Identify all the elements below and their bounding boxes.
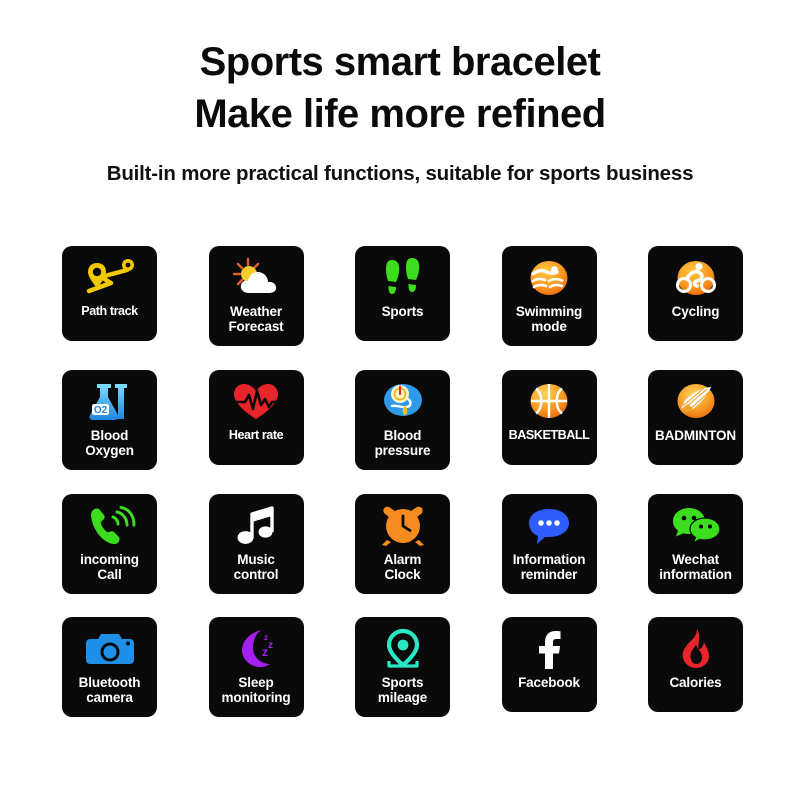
feature-tile-label: Weather Forecast [226,304,285,334]
feature-tile-sleep-monitoring[interactable]: z z z Sleep monitoring [209,617,304,717]
product-feature-poster: Sports smart bracelet Make life more ref… [0,0,800,800]
blood-pressure-icon [377,378,429,426]
camera-icon [84,625,136,673]
feature-tile-label: Alarm Clock [382,552,424,582]
feature-tile-basketball[interactable]: BASKETBALL [502,370,597,465]
feature-tile-label: Calories [667,675,723,690]
feature-tile-label: Sports [380,304,426,319]
music-note-icon [230,502,282,550]
feature-tile-blood-oxygen[interactable]: O2 Blood Oxygen [62,370,157,470]
flame-icon [670,625,722,673]
swimming-icon [523,254,575,302]
feature-tile-label: Sports mileage [376,675,429,705]
facebook-icon [523,625,575,673]
feature-tile-sports[interactable]: Sports [355,246,450,341]
feature-tile-label: Cycling [670,304,722,319]
feature-tile-music-control[interactable]: Music control [209,494,304,594]
incoming-call-icon [84,502,136,550]
badminton-icon [670,378,722,426]
feature-tile-label: incoming Call [78,552,141,582]
page-title-line-2: Make life more refined [0,88,800,140]
path-track-icon [84,254,136,302]
feature-tile-wechat-information[interactable]: Wechat information [648,494,743,594]
feature-tile-label: Information reminder [511,552,588,582]
message-bubble-icon [523,502,575,550]
feature-tile-label: Music control [232,552,281,582]
feature-grid: Path track Weather Forecast Sports [62,246,752,726]
feature-tile-label: Bluetooth camera [77,675,143,705]
feature-tile-label: BASKETBALL [507,428,592,443]
feature-tile-label: Blood Oxygen [83,428,136,458]
map-pin-icon [377,625,429,673]
feature-tile-label: Facebook [516,675,582,690]
cycling-icon [670,254,722,302]
feature-tile-label: Swimming mode [514,304,584,334]
feature-tile-label: BADMINTON [653,428,738,443]
feature-tile-label: Blood pressure [373,428,433,458]
footsteps-icon [377,254,429,302]
sleep-moon-icon: z z z [230,625,282,673]
feature-tile-path-track[interactable]: Path track [62,246,157,341]
alarm-clock-icon [377,502,429,550]
blood-oxygen-icon: O2 [84,378,136,426]
feature-tile-calories[interactable]: Calories [648,617,743,712]
basketball-icon [523,378,575,426]
svg-text:z: z [268,640,273,651]
feature-tile-blood-pressure[interactable]: Blood pressure [355,370,450,470]
page-title-line-1: Sports smart bracelet [0,36,800,88]
feature-tile-incoming-call[interactable]: incoming Call [62,494,157,594]
feature-tile-alarm-clock[interactable]: Alarm Clock [355,494,450,594]
weather-forecast-icon [230,254,282,302]
feature-tile-badminton[interactable]: BADMINTON [648,370,743,465]
feature-tile-cycling[interactable]: Cycling [648,246,743,341]
feature-tile-heart-rate[interactable]: Heart rate [209,370,304,465]
heart-rate-icon [230,378,282,426]
poster-header: Sports smart bracelet Make life more ref… [0,36,800,187]
feature-tile-label: Heart rate [227,428,285,443]
feature-tile-facebook[interactable]: Facebook [502,617,597,712]
feature-tile-bluetooth-camera[interactable]: Bluetooth camera [62,617,157,717]
wechat-icon [670,502,722,550]
feature-tile-weather-forecast[interactable]: Weather Forecast [209,246,304,346]
feature-tile-label: Wechat information [657,552,734,582]
page-subtitle: Built-in more practical functions, suita… [0,161,800,187]
svg-text:z: z [262,645,268,659]
feature-tile-label: Path track [79,304,139,319]
feature-tile-sports-mileage[interactable]: Sports mileage [355,617,450,717]
feature-tile-swimming-mode[interactable]: Swimming mode [502,246,597,346]
feature-tile-label: Sleep monitoring [220,675,293,705]
svg-text:O2: O2 [93,405,107,416]
feature-tile-information-reminder[interactable]: Information reminder [502,494,597,594]
